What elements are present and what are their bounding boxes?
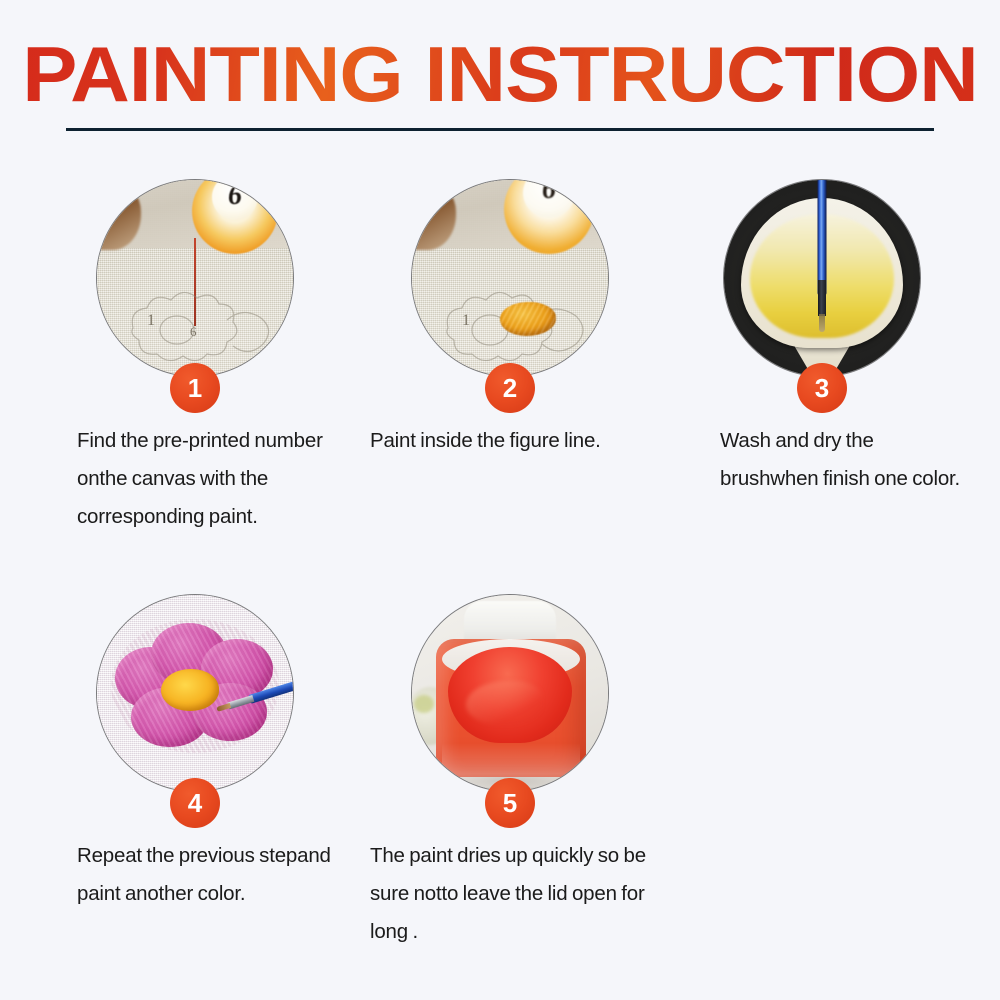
scene-open-red-paint-pot [412, 595, 608, 791]
step-4-photo-wrap: 4 [97, 595, 293, 791]
step-card-2: 6 1 [360, 180, 660, 460]
step-caption-4: Repeat the previous stepand paint anothe… [77, 837, 335, 913]
paint-highlight [466, 681, 542, 725]
canvas-number-left: 1 [462, 312, 470, 330]
scene-canvas-with-numbered-lid: 6 1 6 [97, 180, 293, 376]
step-3-photo-wrap: 3 [724, 180, 920, 376]
canvas-number-left: 1 [147, 312, 155, 330]
brush-handle [818, 180, 827, 296]
page-header: PAINTING INSTRUCTION [0, 0, 1000, 150]
step-5-photo-wrap: 5 [412, 595, 608, 791]
page-title: PAINTING INSTRUCTION [0, 34, 1000, 114]
step-caption-2: Paint inside the figure line. [370, 422, 648, 460]
title-underline-rule [66, 128, 934, 131]
lid-number-label: 6 [228, 180, 242, 212]
step-5-photo [412, 595, 608, 791]
step-2-photo: 6 1 [412, 180, 608, 376]
step-card-3: 3 Wash and dry the brushwhen finish one … [672, 180, 972, 498]
scene-rinse-brush-in-cup [724, 180, 920, 376]
brush-bristles [819, 314, 825, 332]
step-caption-3: Wash and dry the brushwhen finish one co… [720, 422, 970, 498]
background-object-accent [414, 695, 434, 713]
step-card-5: 5 The paint dries up quickly so be sure … [360, 595, 660, 951]
step-badge-3: 3 [797, 363, 847, 413]
lid-number-label: 6 [542, 180, 556, 206]
step-card-1: 6 1 6 1 [45, 180, 345, 536]
step-badge-4: 4 [170, 778, 220, 828]
step-1-photo-wrap: 6 1 6 1 [97, 180, 293, 376]
step-4-photo [97, 595, 293, 791]
step-3-photo [724, 180, 920, 376]
instruction-steps-grid: 6 1 6 1 [0, 180, 1000, 1000]
step-2-photo-wrap: 6 1 [412, 180, 608, 376]
step-card-4: 4 Repeat the previous stepand paint anot… [45, 595, 345, 913]
scene-pink-flower-painted [97, 595, 293, 791]
brush-ferrule [818, 280, 826, 316]
step-caption-5: The paint dries up quickly so be sure no… [370, 837, 648, 951]
brush-bristles [216, 703, 231, 712]
scene-paint-inside-outline: 6 1 [412, 180, 608, 376]
step-badge-5: 5 [485, 778, 535, 828]
outline-svg [115, 290, 279, 364]
step-badge-1: 1 [170, 363, 220, 413]
flower-center [161, 669, 219, 711]
step-caption-1: Find the pre-printed number onthe canvas… [77, 422, 335, 536]
step-badge-2: 2 [485, 363, 535, 413]
canvas-number-center: 6 [190, 324, 197, 340]
printed-outline-sketch [115, 290, 279, 364]
step-1-photo: 6 1 6 [97, 180, 293, 376]
